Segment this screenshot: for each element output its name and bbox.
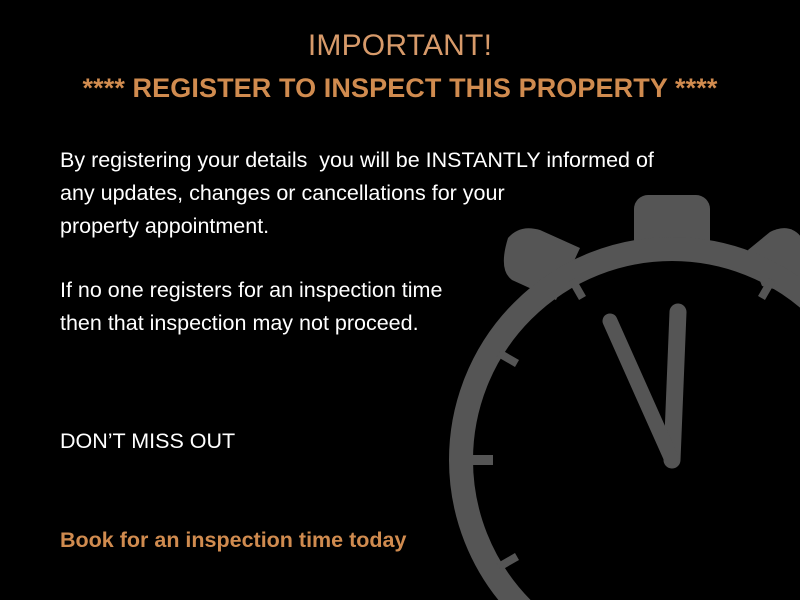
paragraph-warning: If no one registers for an inspection ti… — [60, 274, 442, 340]
headings-group: IMPORTANT! **** REGISTER TO INSPECT THIS… — [0, 26, 800, 108]
cta-lead-line: DON’T MISS OUT — [60, 425, 406, 458]
paragraph-benefits: By registering your details you will be … — [60, 144, 654, 243]
page-title: IMPORTANT! — [0, 26, 800, 66]
cta-accent-line-1: Book for an inspection time today — [60, 524, 406, 557]
call-to-action-block: DON’T MISS OUT Book for an inspection ti… — [60, 359, 406, 600]
flyer-slide: IMPORTANT! **** REGISTER TO INSPECT THIS… — [0, 0, 800, 600]
page-subtitle: **** REGISTER TO INSPECT THIS PROPERTY *… — [0, 68, 800, 108]
content-layer: IMPORTANT! **** REGISTER TO INSPECT THIS… — [0, 0, 800, 600]
